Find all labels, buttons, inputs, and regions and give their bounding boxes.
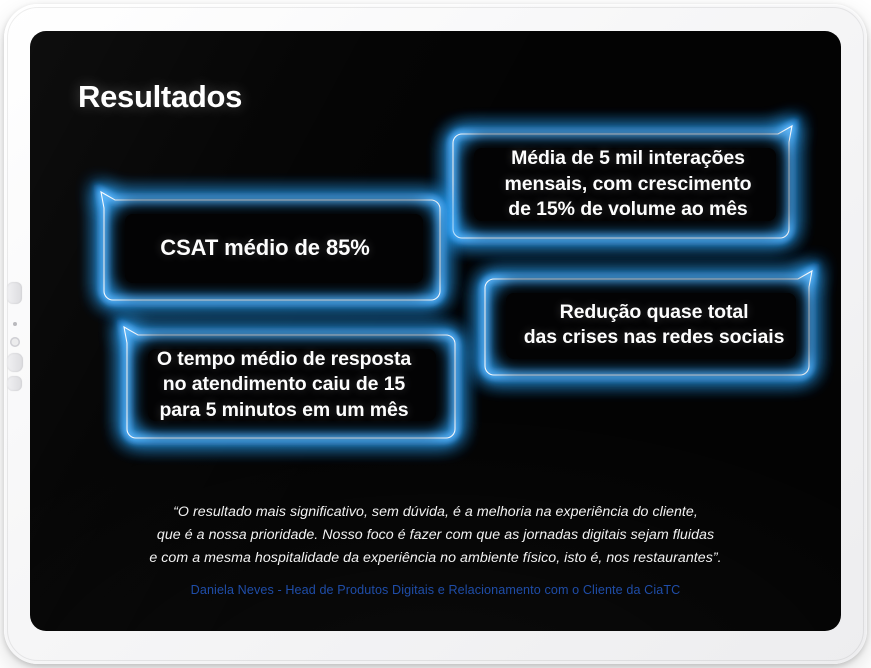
tablet-screen: Resultados M [30, 31, 841, 631]
stat-bubble-response-time-text: O tempo médio de resposta no atendimento… [108, 327, 460, 443]
testimonial-quote: “O resultado mais significativo, sem dúv… [80, 501, 791, 570]
microphone-hole-icon [13, 322, 17, 326]
power-button[interactable] [7, 376, 22, 391]
stat-bubble-crises-text: Redução quase total das crises nas redes… [480, 271, 828, 379]
stat-bubble-crises: Redução quase total das crises nas redes… [480, 271, 828, 379]
volume-down-button[interactable] [7, 353, 23, 372]
page-title: Resultados [78, 79, 242, 115]
testimonial-attribution: Daniela Neves - Head de Produtos Digitai… [80, 583, 791, 597]
stat-bubble-interactions-text: Média de 5 mil interações mensais, com c… [448, 126, 808, 243]
tablet-device-frame: Resultados M [4, 4, 867, 664]
camera-lens-icon [10, 337, 20, 347]
stat-bubble-csat: CSAT médio de 85% [85, 192, 445, 305]
stat-bubble-interactions: Média de 5 mil interações mensais, com c… [448, 126, 808, 243]
volume-up-button[interactable] [7, 282, 22, 304]
stat-bubble-csat-text: CSAT médio de 85% [85, 192, 445, 305]
stat-bubble-response-time: O tempo médio de resposta no atendimento… [108, 327, 460, 443]
